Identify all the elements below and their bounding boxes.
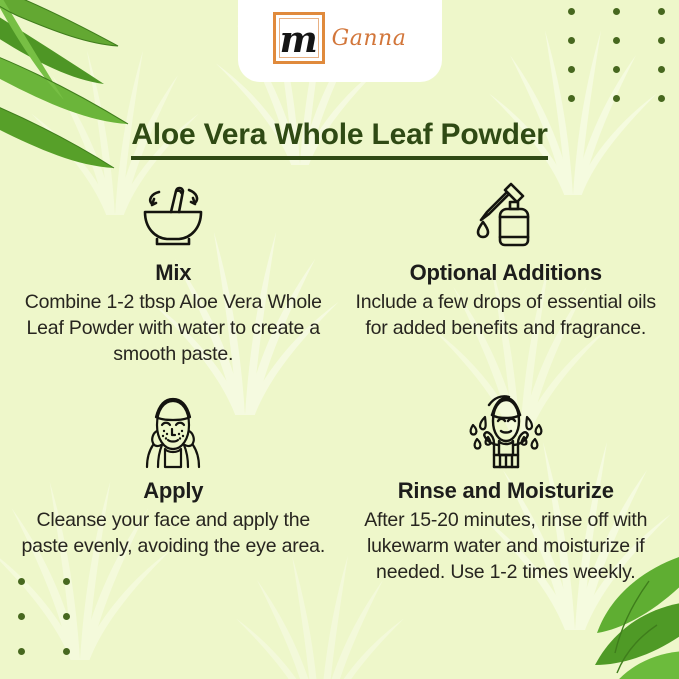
logo-monogram-letter: m [280, 22, 318, 58]
steps-grid: Mix Combine 1-2 tbsp Aloe Vera Whole Lea… [14, 176, 665, 586]
step-icon-wrapper [353, 394, 660, 472]
page-title-text: Aloe Vera Whole Leaf Powder [131, 118, 547, 160]
face-rinse-splash-icon [465, 395, 547, 471]
decor-dot [18, 613, 25, 620]
logo-monogram-box: m [273, 12, 325, 64]
decor-dot [63, 648, 70, 655]
brand-logo: m Ganna [273, 12, 407, 64]
step-icon-wrapper [353, 176, 660, 254]
step-title: Rinse and Moisturize [353, 478, 660, 504]
infographic-poster: m Ganna Aloe Vera Whole Leaf Powder [0, 0, 679, 679]
step-icon-wrapper [20, 176, 327, 254]
logo-wordmark: Ganna [332, 26, 407, 51]
step-card-rinse-and-moisturize: Rinse and Moisturize After 15-20 minutes… [347, 394, 666, 586]
decor-dot [613, 66, 620, 73]
decor-dot [658, 95, 665, 102]
dot-grid-top-right [568, 8, 665, 102]
decor-dot [613, 8, 620, 15]
page-title: Aloe Vera Whole Leaf Powder [0, 118, 679, 160]
step-icon-wrapper [20, 394, 327, 472]
decor-dot [658, 37, 665, 44]
step-body: Cleanse your face and apply the paste ev… [20, 508, 327, 560]
decor-dot [613, 95, 620, 102]
step-title: Mix [20, 260, 327, 286]
dot-grid-bottom-left [18, 578, 70, 655]
step-card-apply: Apply Cleanse your face and apply the pa… [14, 394, 333, 586]
brand-logo-card: m Ganna [238, 0, 442, 82]
mortar-bowl-stir-icon [135, 178, 211, 252]
decor-dot [658, 8, 665, 15]
face-apply-cream-icon [135, 395, 211, 471]
step-title: Optional Additions [353, 260, 660, 286]
step-card-mix: Mix Combine 1-2 tbsp Aloe Vera Whole Lea… [14, 176, 333, 368]
decor-dot [568, 66, 575, 73]
decor-dot [568, 8, 575, 15]
decor-dot [568, 37, 575, 44]
decor-dot [658, 66, 665, 73]
decor-dot [568, 95, 575, 102]
decor-dot [613, 37, 620, 44]
step-body: Include a few drops of essential oils fo… [353, 290, 660, 342]
step-body: Combine 1-2 tbsp Aloe Vera Whole Leaf Po… [20, 290, 327, 368]
step-body: After 15-20 minutes, rinse off with luke… [353, 508, 660, 586]
dropper-bottle-icon [467, 178, 545, 252]
decor-dot [18, 648, 25, 655]
step-title: Apply [20, 478, 327, 504]
step-card-optional-additions: Optional Additions Include a few drops o… [347, 176, 666, 368]
decor-dot [63, 613, 70, 620]
